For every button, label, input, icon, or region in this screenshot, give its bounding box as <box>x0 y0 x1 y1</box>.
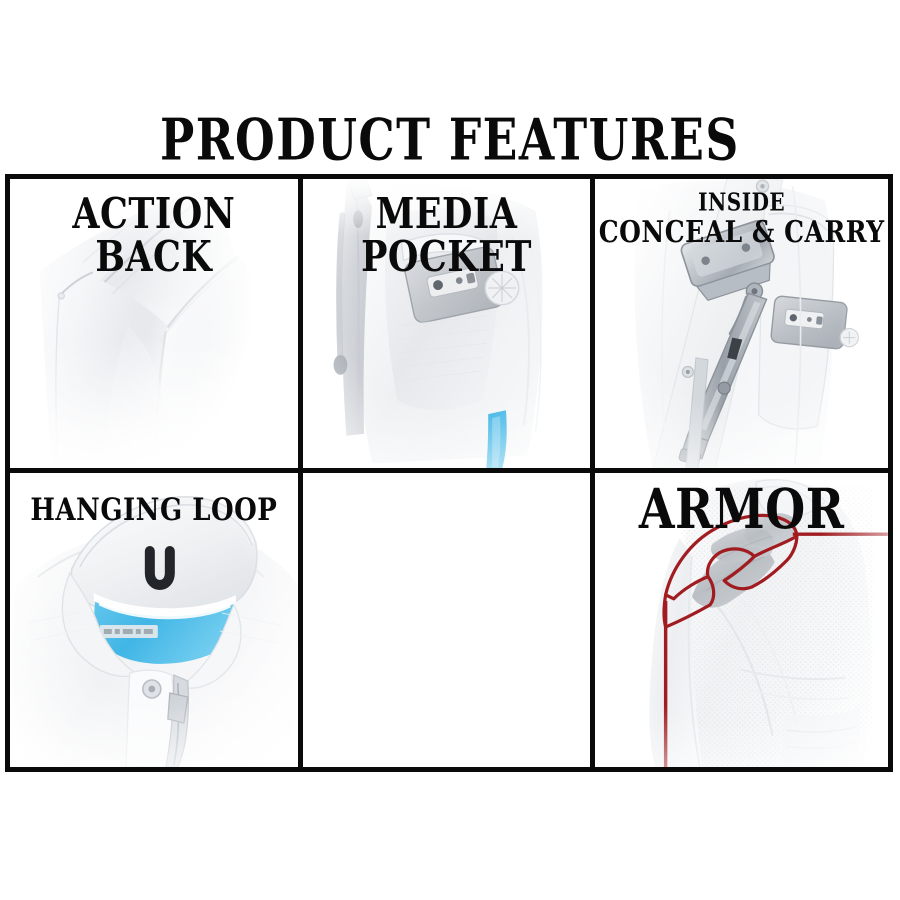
conceal-carry-photo <box>595 179 888 468</box>
page-title-wrap: PRODUCT FEATURES <box>0 112 900 159</box>
product-features-poster: PRODUCT FEATURES <box>0 0 900 900</box>
feature-cell-hanging-loop[interactable]: HANGING LOOP <box>10 473 303 767</box>
feature-grid: ACTION BACK <box>5 174 893 772</box>
armor-photo <box>595 473 888 767</box>
feature-cell-media-pocket[interactable]: MEDIA POCKET <box>303 179 596 473</box>
feature-cell-conceal-carry[interactable]: INSIDE CONCEAL & CARRY <box>595 179 888 473</box>
action-back-photo <box>10 179 298 468</box>
page-title: PRODUCT FEATURES <box>160 112 740 169</box>
feature-cell-armor[interactable]: ARMOR <box>595 473 888 767</box>
feature-cell-action-back[interactable]: ACTION BACK <box>10 179 303 473</box>
feature-cell-empty[interactable] <box>303 473 596 767</box>
media-pocket-photo <box>303 179 591 468</box>
hanging-loop-photo <box>10 473 298 767</box>
